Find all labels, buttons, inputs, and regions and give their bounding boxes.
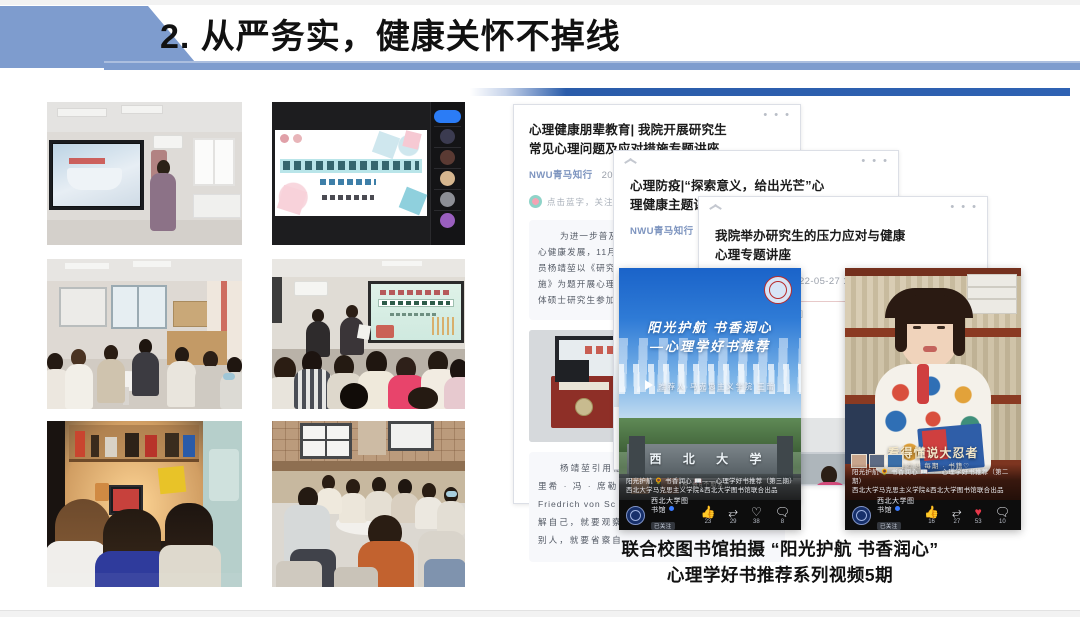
comment-count: 8 <box>775 519 790 525</box>
photo-online-meeting <box>272 102 465 245</box>
video-title-line1: 阳光护航 书香润心 <box>619 319 801 336</box>
comment-stat[interactable]: 🗨 10 <box>995 506 1010 525</box>
browser-titlebar-strip <box>470 88 1070 96</box>
photo-group-circle-discussion <box>47 259 242 409</box>
slide-root: 2. 从严务实，健康关怀不掉线 <box>0 0 1080 617</box>
play-icon[interactable] <box>645 380 653 390</box>
school-gate-text: 西 北 大 学 <box>627 450 793 467</box>
university-seal-icon <box>764 276 792 304</box>
more-dots-icon[interactable]: • • • <box>950 201 978 213</box>
thumbs-up-icon[interactable]: 👍 <box>924 506 939 518</box>
like-stat[interactable]: 👍 23 <box>700 506 715 525</box>
heart-filled-icon[interactable]: ♥ <box>975 506 982 518</box>
slide-caption: 联合校图书馆拍摄 “阳光护航 书香润心” 心理学好书推荐系列视频5期 <box>540 536 1020 588</box>
video-action-bar-2[interactable]: 西北大学图书馆 已关注 👍 16 ⥂ 27 ♥ 53 🗨 <box>845 500 1021 530</box>
verified-dot-icon <box>895 506 900 511</box>
video-caption: 阳光护航 🌻 书香润心 📖——心理学好书推荐（第三期） 西北大学马克思主义学院&… <box>619 473 801 500</box>
page-title: 2. 从严务实，健康关怀不掉线 <box>160 10 621 66</box>
channel-name: 西北大学图书馆 <box>651 497 694 515</box>
share-count: 27 <box>952 519 962 525</box>
channel-name: 西北大学图书馆 <box>877 497 918 515</box>
video-title-line2: —心理学好书推荐 <box>619 338 801 355</box>
channel-info[interactable]: 西北大学图书馆 已关注 <box>651 497 694 530</box>
photo-classroom-audience <box>272 259 465 409</box>
video-caption-line1: 阳光护航 🌻 书香润心 📖——心理学好书推荐（第二期） <box>852 468 1014 486</box>
caption-line-1: 联合校图书馆拍摄 “阳光护航 书香润心” <box>540 536 1020 562</box>
photo-classroom-lecture <box>47 102 242 245</box>
like-stat[interactable]: 👍 16 <box>924 506 939 525</box>
video-caption-line1: 阳光护航 🌻 书香润心 📖——心理学好书推荐（第三期） <box>626 477 794 486</box>
video-caption-line2: 西北大学马克思主义学院&西北大学图书馆联合出品 <box>626 486 794 495</box>
slide-top-border <box>0 0 1080 5</box>
verified-dot-icon <box>669 506 674 511</box>
heart-icon[interactable]: ♡ <box>751 506 762 518</box>
channel-follow-tag[interactable]: 已关注 <box>651 522 675 530</box>
video-thumbnail: 西 北 大 学 阳光护航 书香润心 —心理学好书推荐 推荐人·马克思主义学院 王… <box>619 268 801 500</box>
heart-count: 53 <box>975 519 982 525</box>
heart-stat[interactable]: ♥ 53 <box>975 506 982 525</box>
article-title-line1: 我院举办研究生的压力应对与健康 <box>715 227 971 246</box>
share-icon[interactable]: ⥂ <box>952 506 962 518</box>
like-count: 23 <box>700 519 715 525</box>
photo-students-watching-screen <box>47 421 242 587</box>
more-dots-icon[interactable]: • • • <box>763 109 791 121</box>
video-stats[interactable]: 👍 23 ⥂ 29 ♡ 38 🗨 8 <box>700 506 794 525</box>
article-title-line1: 心理健康朋辈教育| 我院开展研究生 <box>529 121 785 140</box>
slide-bottom-border <box>0 610 1080 617</box>
comment-stat[interactable]: 🗨 8 <box>775 506 790 525</box>
share-stat[interactable]: ⥂ 27 <box>952 506 962 525</box>
photo-seminar-round-table <box>272 421 465 587</box>
article-account: NWU青马知行 <box>529 170 593 181</box>
article-title-line1: 心理防疫|“探索意义，给出光芒”心 <box>630 177 882 196</box>
video-action-bar[interactable]: 西北大学图书馆 已关注 👍 23 ⥂ 29 ♡ 38 🗨 <box>619 500 801 530</box>
heart-count: 38 <box>751 519 762 525</box>
caption-line-2: 心理学好书推荐系列视频5期 <box>540 562 1020 588</box>
share-stat[interactable]: ⥂ 29 <box>728 506 738 525</box>
channel-follow-tag[interactable]: 已关注 <box>877 522 901 530</box>
video-card-sunshine-escort[interactable]: 西 北 大 学 阳光护航 书香润心 —心理学好书推荐 推荐人·马克思主义学院 王… <box>619 268 801 530</box>
collapse-chevron-icon[interactable] <box>624 157 636 164</box>
video-stats-2[interactable]: 👍 16 ⥂ 27 ♥ 53 🗨 10 <box>924 506 1014 525</box>
video-card-book-recommender[interactable]: 看得懂说大忍者 ·推荐语 每期 · 书籍♡ 阳光护航 🌻 书香润心 📖——心理学… <box>845 268 1021 530</box>
thumbs-up-icon[interactable]: 👍 <box>700 506 715 518</box>
share-count: 29 <box>728 519 738 525</box>
share-icon[interactable]: ⥂ <box>728 506 738 518</box>
channel-avatar[interactable] <box>626 506 645 525</box>
title-banner: 2. 从严务实，健康关怀不掉线 <box>0 6 1080 68</box>
more-dots-icon[interactable]: • • • <box>861 155 889 167</box>
video-caption-line2: 西北大学马克思主义学院&西北大学图书馆联合出品 <box>852 486 1014 495</box>
video-caption-2: 阳光护航 🌻 书香润心 📖——心理学好书推荐（第二期） 西北大学马克思主义学院&… <box>845 464 1021 500</box>
video-presenter-text: 推荐人·马克思主义学院 王蕾 <box>659 382 776 391</box>
channel-info[interactable]: 西北大学图书馆 已关注 <box>877 497 918 530</box>
channel-avatar[interactable] <box>852 506 871 525</box>
comment-icon[interactable]: 🗨 <box>995 506 1010 518</box>
heart-stat[interactable]: ♡ 38 <box>751 506 762 525</box>
article-account: NWU青马知行 <box>630 226 694 237</box>
comment-count: 10 <box>995 519 1010 525</box>
video-presenter-line: 推荐人·马克思主义学院 王蕾 <box>619 380 801 392</box>
article-title-line2: 心理专题讲座 <box>715 246 971 265</box>
like-count: 16 <box>924 519 939 525</box>
comment-icon[interactable]: 🗨 <box>775 506 790 518</box>
flower-icon <box>529 195 542 208</box>
collapse-chevron-icon[interactable] <box>709 203 721 210</box>
